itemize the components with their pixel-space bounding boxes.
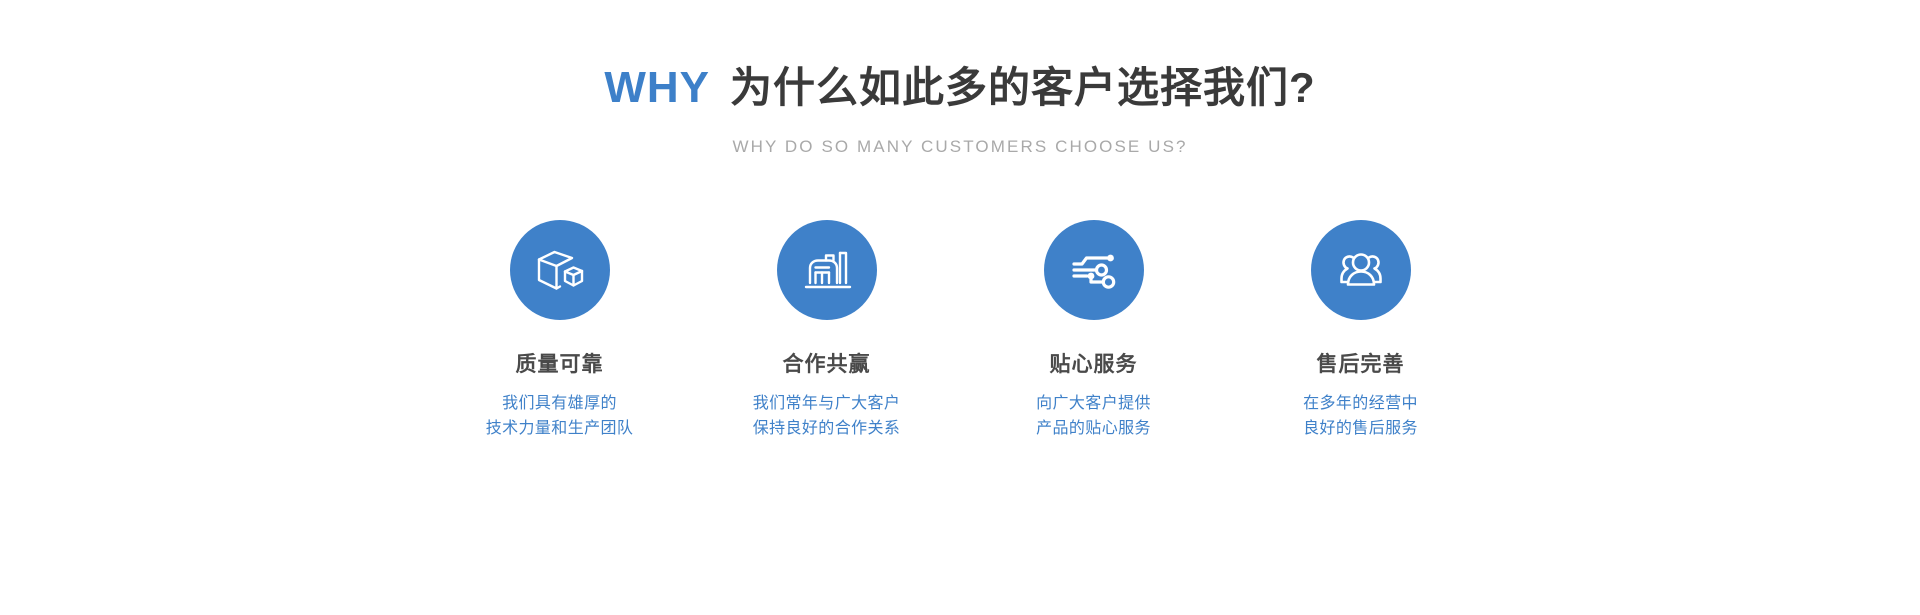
icon-circle-quality bbox=[510, 220, 610, 320]
feature-card-title: 质量可靠 bbox=[516, 353, 604, 376]
subtitle-english: WHY DO SO MANY CUSTOMERS CHOOSE US? bbox=[732, 137, 1187, 157]
heading-why-label: WHY bbox=[604, 66, 710, 110]
feature-card-description: 我们具有雄厚的 技术力量和生产团队 bbox=[486, 392, 634, 442]
icon-circle-cooperation bbox=[777, 220, 877, 320]
feature-cards: 质量可靠 我们具有雄厚的 技术力量和生产团队 bbox=[426, 220, 1494, 442]
feature-card-description: 向广大客户提供 产品的贴心服务 bbox=[1036, 392, 1151, 442]
why-choose-us-section: WHY 为什么如此多的客户选择我们? WHY DO SO MANY CUSTOM… bbox=[0, 0, 1920, 615]
users-group-icon bbox=[1333, 242, 1389, 298]
feature-card-description-line2: 保持良好的合作关系 bbox=[753, 417, 901, 442]
feature-card-description-line2: 技术力量和生产团队 bbox=[486, 417, 634, 442]
feature-card-description: 在多年的经营中 良好的售后服务 bbox=[1303, 392, 1418, 442]
feature-card-aftersales[interactable]: 售后完善 在多年的经营中 良好的售后服务 bbox=[1227, 220, 1494, 442]
feature-card-title: 合作共赢 bbox=[783, 353, 871, 376]
feature-card-service[interactable]: 贴心服务 向广大客户提供 产品的贴心服务 bbox=[960, 220, 1227, 442]
feature-card-description-line2: 良好的售后服务 bbox=[1303, 417, 1418, 442]
factory-icon bbox=[799, 242, 855, 298]
page-title: WHY 为什么如此多的客户选择我们? bbox=[604, 66, 1315, 110]
feature-card-quality[interactable]: 质量可靠 我们具有雄厚的 技术力量和生产团队 bbox=[426, 220, 693, 442]
feature-card-description-line1: 在多年的经营中 bbox=[1303, 392, 1418, 417]
heading-title-chinese: 为什么如此多的客户选择我们? bbox=[730, 67, 1316, 109]
feature-card-description: 我们常年与广大客户 保持良好的合作关系 bbox=[753, 392, 901, 442]
feature-card-description-line1: 我们具有雄厚的 bbox=[486, 392, 634, 417]
icon-circle-service bbox=[1044, 220, 1144, 320]
feature-card-title: 贴心服务 bbox=[1050, 353, 1138, 376]
feature-card-description-line1: 我们常年与广大客户 bbox=[753, 392, 901, 417]
feature-card-cooperation[interactable]: 合作共赢 我们常年与广大客户 保持良好的合作关系 bbox=[693, 220, 960, 442]
feature-card-description-line1: 向广大客户提供 bbox=[1036, 392, 1151, 417]
feature-card-title: 售后完善 bbox=[1317, 353, 1405, 376]
feature-card-description-line2: 产品的贴心服务 bbox=[1036, 417, 1151, 442]
box-cube-icon bbox=[532, 242, 588, 298]
circuit-nodes-icon bbox=[1066, 242, 1122, 298]
icon-circle-aftersales bbox=[1311, 220, 1411, 320]
